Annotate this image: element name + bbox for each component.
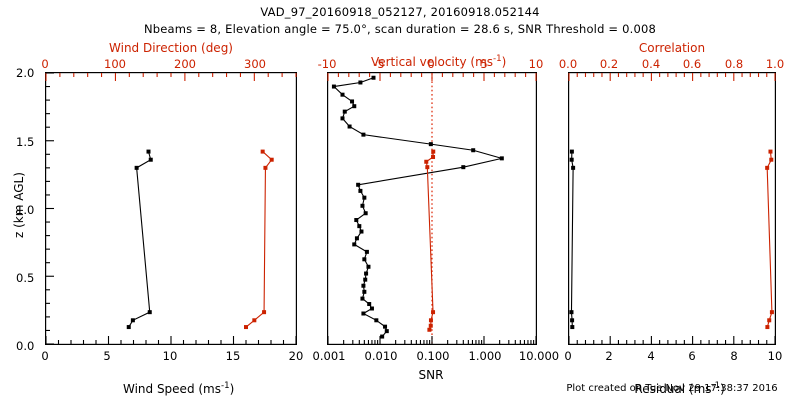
- panel-residual-bottom-tick-0: 0: [564, 349, 571, 363]
- panel-snr-bottom-axis-title: SNR: [419, 368, 444, 382]
- panel-residual-bottom-tick-3: 6: [688, 349, 695, 363]
- panel-residual-top-tick-2: 0.4: [642, 57, 660, 71]
- panel-wind-plot-area: [45, 72, 297, 345]
- panel-wind-top-tick-1: 100: [104, 57, 126, 71]
- panel-wind-top-ticks: [46, 73, 296, 81]
- panel-wind-bottom-tick-0: 0: [41, 349, 48, 363]
- panel-snr-series: [332, 76, 504, 339]
- panel-snr-top-tick-4: 10: [529, 57, 544, 71]
- panel-residual-bottom-tick-1: 2: [605, 349, 612, 363]
- panel-wind-bottom-axis-title: Wind Speed (ms-1): [108, 368, 235, 400]
- figure-subtitle: Nbeams = 8, Elevation angle = 75.0°, sca…: [144, 22, 656, 36]
- panel-wind-top-tick-3: 300: [244, 57, 266, 71]
- y-tick-label-1: 0.5: [16, 271, 34, 285]
- panel-snr-bottom-ticks: [328, 336, 536, 344]
- panel-snr-bottom-tick-3: 1.000: [469, 349, 502, 363]
- panel-snr-axis-title-exponent: -1: [493, 54, 502, 64]
- panel-wind-left-ticks: [46, 73, 54, 344]
- panel-snr-top-tick-0: -10: [318, 57, 337, 71]
- panel-wind-bottom-tick-3: 15: [226, 349, 241, 363]
- panel-snr-axis-title-tail: ): [502, 55, 507, 69]
- panel-wind-bottom-tick-4: 20: [289, 349, 304, 363]
- vad-plot-figure: VAD_97_20160918_052127, 20160918.052144 …: [0, 0, 800, 400]
- panel-snr-top-ticks: [328, 73, 536, 81]
- panel-snr-bottom-tick-4: 10.000: [519, 349, 559, 363]
- panel-residual-bottom-tick-2: 4: [647, 349, 654, 363]
- panel-snr-bottom-tick-2: 0.100: [417, 349, 450, 363]
- panel-residual-top-tick-0: 0.0: [559, 57, 577, 71]
- panel-residual-bottom-tick-4: 8: [730, 349, 737, 363]
- panel-wind-axis-title-exponent: -1: [221, 381, 230, 391]
- panel-residual-top-tick-5: 1.0: [766, 57, 784, 71]
- panel-snr-plot-area: [327, 72, 537, 345]
- panel-snr-bottom-tick-0: 0.001: [313, 349, 346, 363]
- panel-wind-top-tick-0: 0: [41, 57, 48, 71]
- panel-residual-top-ticks: [569, 73, 775, 81]
- panel-wind-bottom-tick-1: 5: [103, 349, 110, 363]
- panel-residual-plot-area: [568, 72, 776, 345]
- panel-snr-top-tick-2: 0: [427, 57, 434, 71]
- panel-snr-top-tick-3: 5: [480, 57, 487, 71]
- figure-title: VAD_97_20160918_052127, 20160918.052144: [260, 5, 539, 19]
- y-tick-label-4: 2.0: [16, 66, 34, 80]
- y-tick-label-3: 1.5: [16, 135, 34, 149]
- panel-residual-bottom-ticks: [569, 336, 775, 344]
- panel-residual-top-tick-4: 0.8: [725, 57, 743, 71]
- panel-wind-top-tick-2: 200: [174, 57, 196, 71]
- y-tick-label-0: 0.0: [16, 339, 34, 353]
- panel-residual-top-tick-3: 0.6: [683, 57, 701, 71]
- panel-residual-bottom-tick-5: 10: [768, 349, 783, 363]
- panel-wind-axis-title-tail: ): [230, 382, 235, 396]
- panel-wind-bottom-ticks: [46, 336, 296, 344]
- y-tick-label-2: 1.0: [16, 203, 34, 217]
- panel-wind-top-axis-title: Wind Direction (deg): [109, 41, 233, 55]
- panel-residual-series: [569, 150, 773, 329]
- panel-snr-top-tick-1: -5: [373, 57, 384, 71]
- panel-wind-axis-title-base: Wind Speed (ms: [123, 382, 221, 396]
- panel-snr-bottom-tick-1: 0.010: [365, 349, 398, 363]
- plot-created-timestamp: Plot created on Tue Nov 29 17:38:37 2016: [566, 383, 777, 394]
- panel-wind-bottom-tick-2: 10: [163, 349, 178, 363]
- panel-wind-series: [127, 150, 274, 329]
- panel-residual-top-axis-title: Correlation: [639, 41, 705, 55]
- panel-residual-top-tick-1: 0.2: [600, 57, 618, 71]
